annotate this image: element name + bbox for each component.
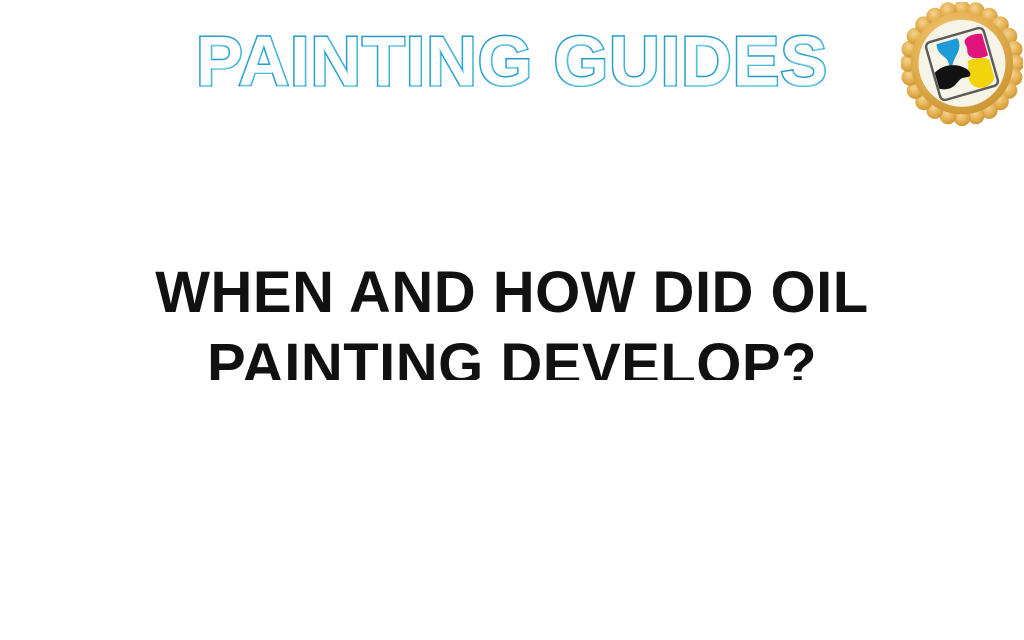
- site-header: PAINTING GUIDES: [0, 0, 1024, 134]
- palette-badge-logo[interactable]: [901, 2, 1023, 130]
- brand-wordmark[interactable]: PAINTING GUIDES: [0, 22, 1024, 100]
- article-body-region: [0, 380, 1024, 640]
- page-root: PAINTING GUIDES: [0, 0, 1024, 640]
- page-title-line-1: WHEN AND HOW DID OIL: [0, 257, 1024, 329]
